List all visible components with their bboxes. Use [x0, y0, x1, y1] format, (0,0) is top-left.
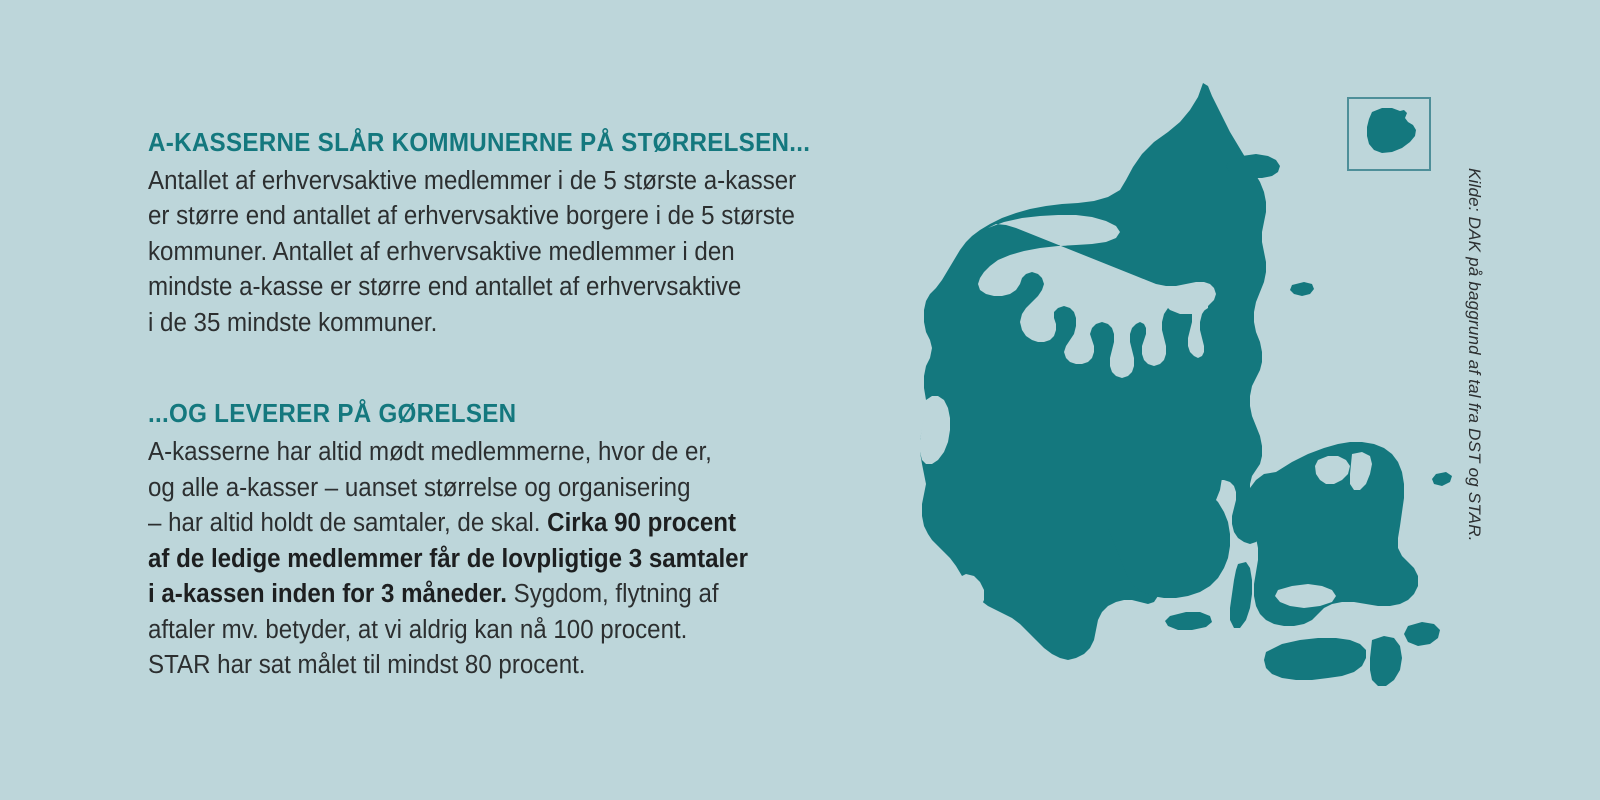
lolland-island — [1264, 638, 1366, 680]
body-line: – har altid holdt de samtaler, de skal. … — [148, 506, 866, 542]
body-line: A-kasserne har altid mødt medlemmerne, h… — [148, 435, 866, 471]
denmark-map-svg — [880, 70, 1480, 720]
bornholm-island — [1367, 108, 1416, 153]
body-line: aftaler mv. betyder, at vi aldrig kan nå… — [148, 613, 866, 649]
text-column: A-KASSERNE SLÅR KOMMUNERNE PÅ STØRRELSEN… — [148, 128, 908, 684]
aeroe-island — [1165, 612, 1212, 630]
body-line: mindste a-kasse er større end antallet a… — [148, 270, 866, 306]
text-block-2: ...OG LEVERER PÅ GØRELSEN A-kasserne har… — [148, 399, 908, 683]
body-text-run: A-kasserne har altid mødt medlemmerne, h… — [148, 438, 712, 466]
body-line: Antallet af erhvervsaktive medlemmer i d… — [148, 164, 866, 200]
body-text-emphasis: af de ledige medlemmer får de lovpligtig… — [148, 545, 748, 573]
body-text-emphasis: i a-kassen inden for 3 måneder. — [148, 580, 507, 608]
body-text-emphasis: Cirka 90 procent — [547, 509, 736, 537]
body-text-run: mindste a-kasse er større end antallet a… — [148, 273, 741, 301]
body-text-run: aftaler mv. betyder, at vi aldrig kan nå… — [148, 616, 687, 644]
headline-secondary: ...OG LEVERER PÅ GØRELSEN — [148, 399, 855, 429]
body-line: i a-kassen inden for 3 måneder. Sygdom, … — [148, 577, 866, 613]
infographic-canvas: A-KASSERNE SLÅR KOMMUNERNE PÅ STØRRELSEN… — [0, 0, 1600, 800]
body-text-run: Antallet af erhvervsaktive medlemmer i d… — [148, 167, 796, 195]
body-text-run: og alle a-kasser – uanset størrelse og o… — [148, 474, 690, 502]
body-line: og alle a-kasser – uanset størrelse og o… — [148, 471, 866, 507]
langeland-island — [1230, 562, 1252, 628]
body-line: STAR har sat målet til mindst 80 procent… — [148, 648, 866, 684]
body-text-run: i de 35 mindste kommuner. — [148, 309, 437, 337]
moen-island — [1404, 622, 1440, 646]
body-line: kommuner. Antallet af erhvervsaktive med… — [148, 235, 866, 271]
body-text-run: kommuner. Antallet af erhvervsaktive med… — [148, 238, 735, 266]
body-paragraph-2: A-kasserne har altid mødt medlemmerne, h… — [148, 435, 866, 684]
body-text-run: STAR har sat målet til mindst 80 procent… — [148, 651, 586, 679]
body-text-run: er større end antallet af erhvervsaktive… — [148, 202, 795, 230]
denmark-map — [880, 70, 1480, 720]
hesseloe-islet — [1432, 472, 1452, 486]
body-text-run: Sygdom, flytning af — [507, 580, 719, 608]
text-block-1: A-KASSERNE SLÅR KOMMUNERNE PÅ STØRRELSEN… — [148, 128, 908, 341]
falster-island — [1370, 636, 1402, 686]
body-text-run: – har altid holdt de samtaler, de skal. — [148, 509, 547, 537]
headline-primary: A-KASSERNE SLÅR KOMMUNERNE PÅ STØRRELSEN… — [148, 128, 855, 158]
body-line: er større end antallet af erhvervsaktive… — [148, 199, 866, 235]
anholt-island — [1290, 282, 1314, 296]
body-line: af de ledige medlemmer får de lovpligtig… — [148, 542, 866, 578]
body-line: i de 35 mindste kommuner. — [148, 306, 866, 342]
body-paragraph-1: Antallet af erhvervsaktive medlemmer i d… — [148, 164, 866, 342]
